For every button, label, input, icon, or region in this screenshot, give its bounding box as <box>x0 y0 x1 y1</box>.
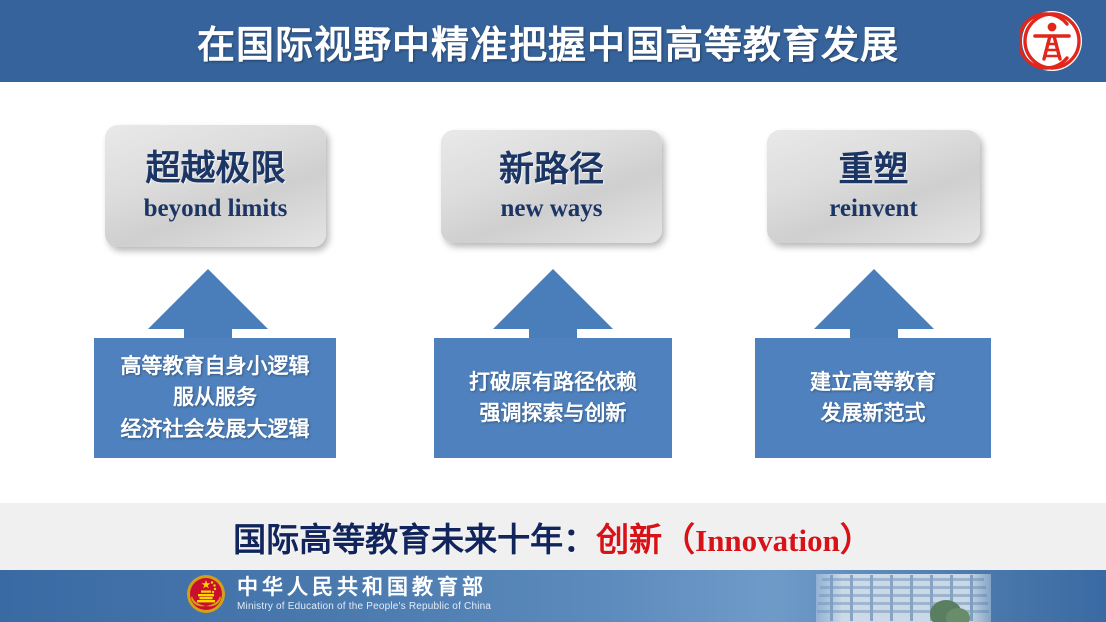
statement-box-1-line-2: 服从服务 <box>173 382 257 413</box>
up-arrow-3 <box>814 269 934 341</box>
national-emblem-icon <box>186 574 226 614</box>
conclusion-text: 国际高等教育未来十年：创新（Innovation） <box>233 513 873 561</box>
ministry-name-cn: 中华人民共和国教育部 <box>237 575 491 599</box>
statement-box-3-line-2: 发展新范式 <box>821 398 926 429</box>
statement-box-1-line-3: 经济社会发展大逻辑 <box>121 414 310 445</box>
conclusion-highlight-en: Innovation <box>695 523 840 558</box>
concept-card-2-cn: 新路径 <box>499 152 604 189</box>
statement-box-1-line-1: 高等教育自身小逻辑 <box>121 351 310 382</box>
ministry-names: 中华人民共和国教育部 Ministry of Education of the … <box>237 575 491 613</box>
slide-footer: 中华人民共和国教育部 Ministry of Education of the … <box>0 570 1106 622</box>
concept-card-2-en: new ways <box>500 196 602 221</box>
statement-box-2-line-2: 强调探索与创新 <box>480 398 627 429</box>
institution-logo-icon <box>1020 9 1084 73</box>
statement-box-3-line-1: 建立高等教育 <box>810 367 936 398</box>
concept-card-1: 超越极限 beyond limits <box>105 125 326 247</box>
slide-header: 在国际视野中精准把握中国高等教育发展 <box>0 0 1106 82</box>
concept-card-3-cn: 重塑 <box>838 152 908 189</box>
ministry-brand: 中华人民共和国教育部 Ministry of Education of the … <box>186 574 491 614</box>
concept-card-1-cn: 超越极限 <box>145 151 285 188</box>
concept-card-3-en: reinvent <box>829 196 917 221</box>
statement-box-2: 打破原有路径依赖 强调探索与创新 <box>434 338 672 458</box>
up-arrow-3-icon <box>814 269 934 341</box>
institution-logo <box>1020 9 1084 73</box>
conclusion-highlight-cn: 创新 <box>596 520 662 559</box>
up-arrow-1 <box>148 269 268 341</box>
concept-card-1-en: beyond limits <box>144 196 288 221</box>
up-arrow-2 <box>493 269 613 341</box>
slide-body: 超越极限 beyond limits 高等教育自身小逻辑 服从服务 经济社会发展… <box>0 82 1106 503</box>
conclusion-paren-open: （ <box>662 520 695 559</box>
concept-card-3: 重塑 reinvent <box>767 130 980 243</box>
conclusion-paren-close: ） <box>840 520 873 559</box>
page-title: 在国际视野中精准把握中国高等教育发展 <box>197 14 899 69</box>
ministry-name-en: Ministry of Education of the People's Re… <box>237 601 491 613</box>
statement-box-1: 高等教育自身小逻辑 服从服务 经济社会发展大逻辑 <box>94 338 336 458</box>
up-arrow-2-icon <box>493 269 613 341</box>
statement-box-2-line-1: 打破原有路径依赖 <box>469 367 637 398</box>
ministry-building-photo <box>796 570 1011 622</box>
conclusion-banner: 国际高等教育未来十年：创新（Innovation） <box>0 503 1106 570</box>
statement-box-3: 建立高等教育 发展新范式 <box>755 338 991 458</box>
up-arrow-1-icon <box>148 269 268 341</box>
conclusion-lead: 国际高等教育未来十年： <box>233 520 596 559</box>
concept-card-2: 新路径 new ways <box>441 130 662 243</box>
